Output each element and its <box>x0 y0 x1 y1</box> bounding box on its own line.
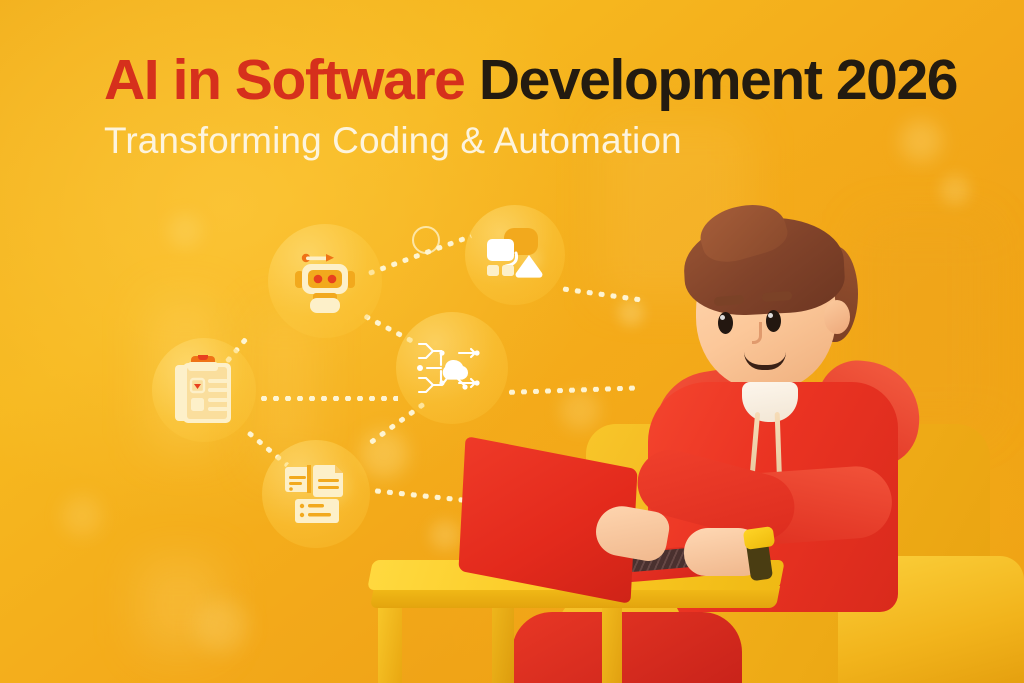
headline-block: AI in Software Development 2026 Transfor… <box>104 52 957 159</box>
character-ear <box>824 300 850 334</box>
page-subtitle: Transforming Coding & Automation <box>104 122 957 159</box>
desk-leg-front-left <box>378 600 402 683</box>
title-highlight: AI in Software <box>104 48 464 112</box>
character-legs <box>512 612 742 683</box>
title-rest: Development 2026 <box>479 48 957 112</box>
ai-software-development-banner: AI in Software Development 2026 Transfor… <box>0 0 1024 683</box>
desk-leg-back-left <box>492 604 514 683</box>
eye-highlight-left <box>720 315 725 320</box>
page-title: AI in Software Development 2026 <box>104 52 957 109</box>
wristwatch-face <box>743 526 775 550</box>
eye-highlight-right <box>768 313 773 318</box>
desk-leg-front-right <box>602 604 622 683</box>
